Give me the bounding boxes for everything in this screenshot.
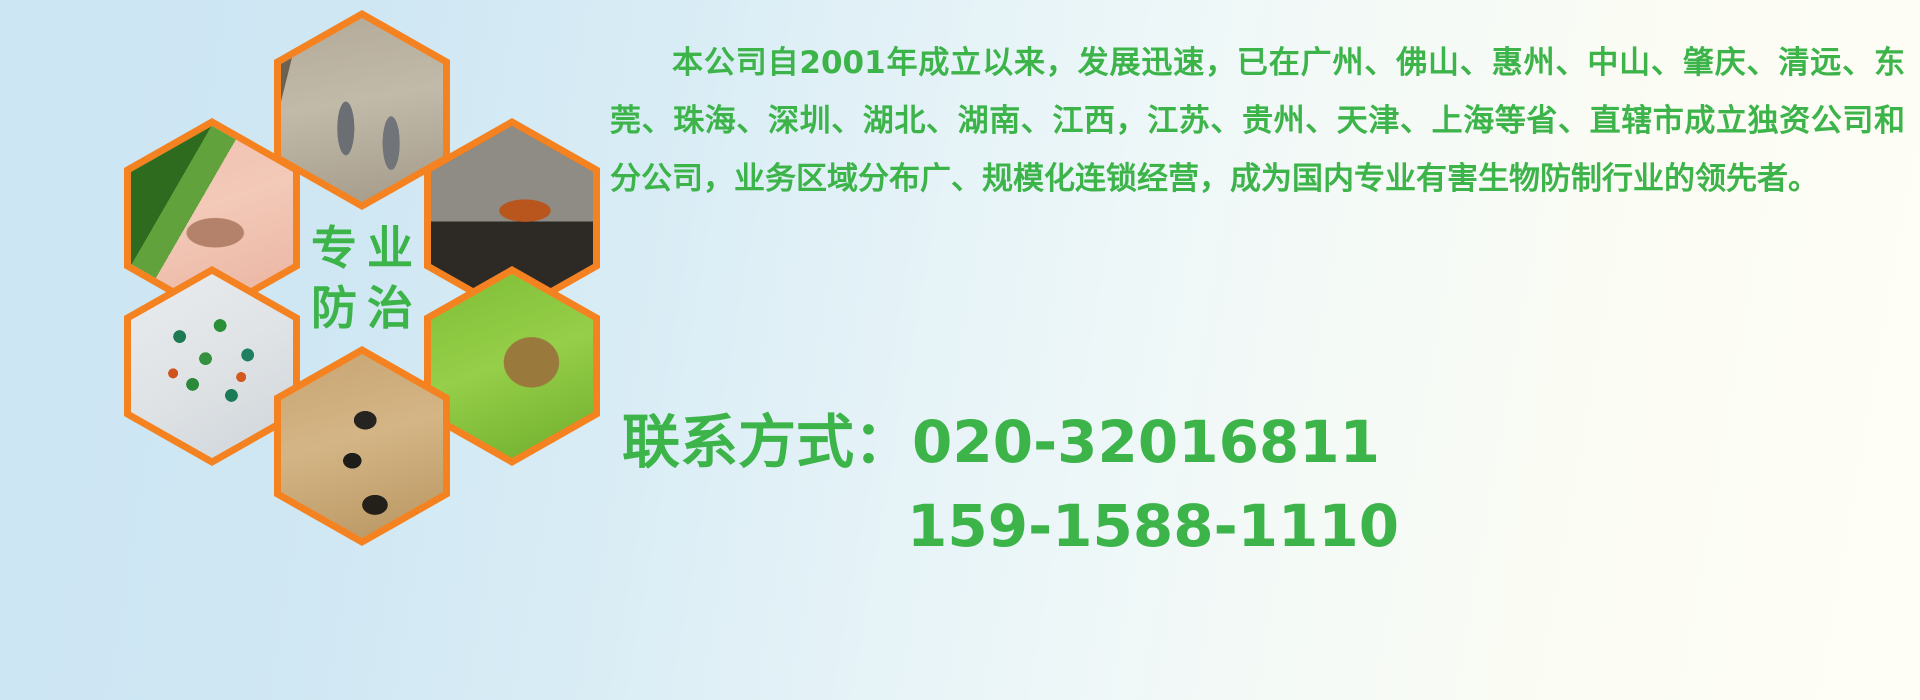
- stinkbug-photo: [431, 274, 593, 458]
- promo-banner: 专业 防治 本公司自2001年成立以来，发展迅速，已在广州、佛山、惠州、中山、肇…: [0, 0, 1920, 700]
- honeycomb-photo-grid: 专业 防治: [88, 0, 608, 564]
- rats-photo: [281, 18, 443, 202]
- contact-block: 联系方式：020-32016811 159-1588-1110: [622, 400, 1912, 568]
- hex-inner-stinkbug: [431, 274, 593, 458]
- honeycomb-center-label: 专业 防治: [274, 178, 450, 378]
- contact-line-primary[interactable]: 联系方式：020-32016811: [622, 400, 1912, 484]
- intro-paragraph: 本公司自2001年成立以来，发展迅速，已在广州、佛山、惠州、中山、肇庆、清远、东…: [610, 34, 1905, 208]
- hex-cell-stinkbug[interactable]: [424, 266, 600, 466]
- hex-inner-rats: [281, 18, 443, 202]
- flies-photo: [131, 274, 293, 458]
- center-label-line-1: 专业: [301, 225, 423, 271]
- center-label-line-2: 防治: [301, 285, 423, 331]
- contact-line-secondary[interactable]: 159-1588-1110: [622, 484, 1912, 568]
- copy-column: 本公司自2001年成立以来，发展迅速，已在广州、佛山、惠州、中山、肇庆、清远、东…: [610, 34, 1905, 208]
- ant-photo: [281, 354, 443, 538]
- hex-inner-ant: [281, 354, 443, 538]
- hex-inner-flies: [131, 274, 293, 458]
